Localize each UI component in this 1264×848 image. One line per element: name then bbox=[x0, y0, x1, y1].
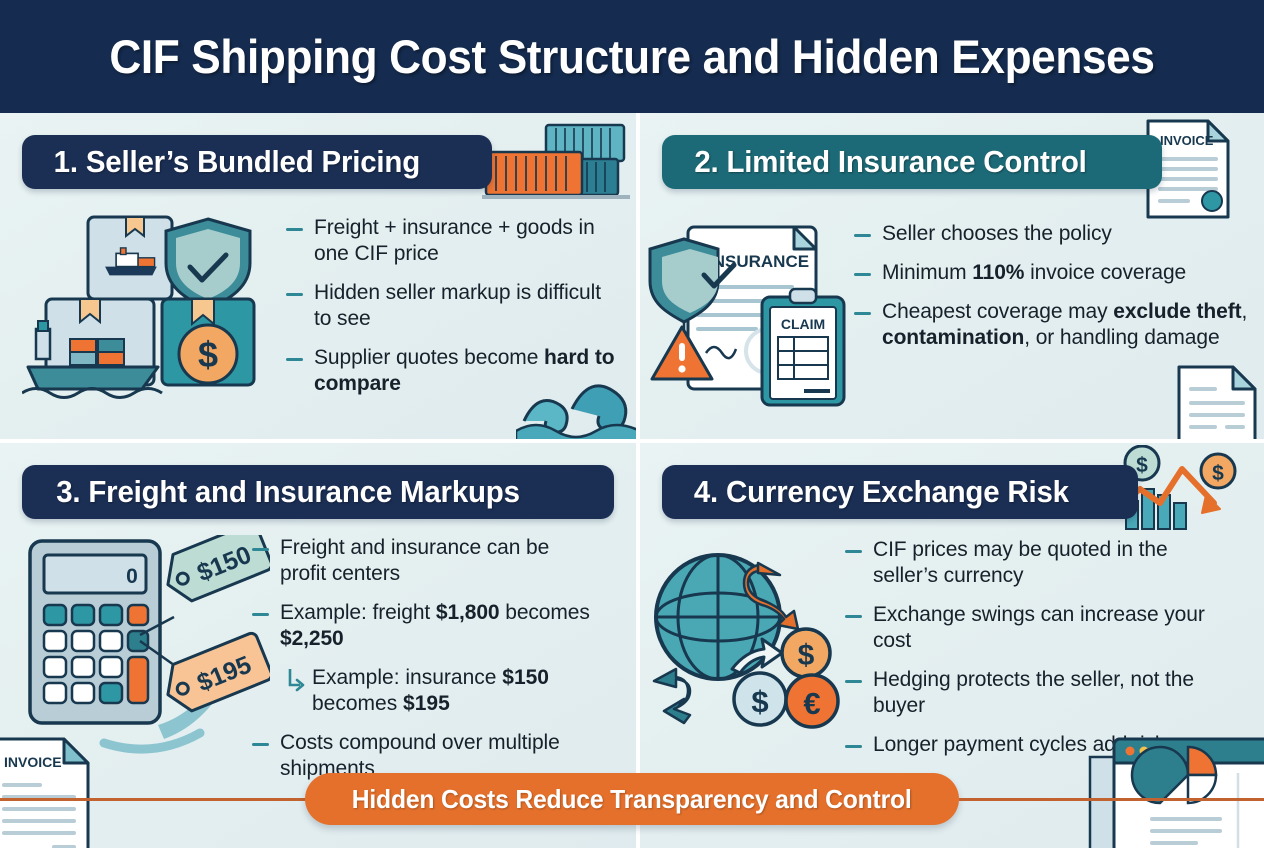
insurance-label: INSURANCE bbox=[708, 252, 809, 271]
section-2-header: 2. Limited Insurance Control bbox=[662, 135, 1162, 189]
coin-dollar-glyph: $ bbox=[198, 334, 218, 375]
invoice-corner-label: INVOICE bbox=[4, 754, 62, 770]
section-1-header: 1. Seller’s Bundled Pricing bbox=[22, 135, 492, 189]
bullet-dash-icon bbox=[845, 615, 862, 618]
section-1-title: 1. Seller’s Bundled Pricing bbox=[54, 144, 420, 180]
bullet-text: Hedging protects the seller, not the buy… bbox=[873, 667, 1227, 719]
bullet-text: Example: freight $1,800 becomes $2,250 bbox=[280, 600, 592, 652]
bullet-text: Minimum 110% invoice coverage bbox=[882, 260, 1186, 286]
calculator-display: 0 bbox=[126, 565, 138, 588]
section-1-bullets: Freight + insurance + goods in one CIF p… bbox=[286, 215, 616, 410]
bullet-text: CIF prices may be quoted in the seller’s… bbox=[873, 537, 1227, 589]
list-item: Cheapest coverage may exclude theft, con… bbox=[854, 299, 1254, 351]
insurance-policy-claim-illustration: INSURANCE CLAIM bbox=[644, 219, 874, 417]
bullet-text: Exchange swings can increase your cost bbox=[873, 602, 1227, 654]
coin-dollar-glyph: $ bbox=[1136, 454, 1148, 477]
section-2-title: 2. Limited Insurance Control bbox=[694, 144, 1086, 180]
bullet-dash-icon bbox=[845, 680, 862, 683]
bullet-dash-icon bbox=[845, 745, 862, 748]
page-title: CIF Shipping Cost Structure and Hidden E… bbox=[109, 29, 1154, 84]
coin-dollar-glyph: $ bbox=[751, 684, 768, 719]
bullet-dash-icon bbox=[286, 358, 303, 361]
list-item: Supplier quotes become hard to compare bbox=[286, 345, 616, 397]
shipping-containers-icon bbox=[468, 121, 638, 201]
banner-text: Hidden Costs Reduce Transparency and Con… bbox=[352, 784, 912, 815]
infographic-page: CIF Shipping Cost Structure and Hidden E… bbox=[0, 0, 1264, 848]
list-item: Exchange swings can increase your cost bbox=[845, 602, 1227, 654]
list-item: Freight and insurance can be profit cent… bbox=[252, 535, 592, 587]
bullet-dash-icon bbox=[286, 228, 303, 231]
bullet-text: Freight and insurance can be profit cent… bbox=[280, 535, 592, 587]
page-title-bar: CIF Shipping Cost Structure and Hidden E… bbox=[0, 0, 1264, 113]
globe-currency-exchange-illustration: $ $ € bbox=[640, 539, 866, 739]
calculator-price-tags-illustration: 0 bbox=[8, 535, 270, 755]
bullet-text: Seller chooses the policy bbox=[882, 221, 1112, 247]
bullet-dash-icon bbox=[854, 312, 871, 315]
coin-dollar-glyph: $ bbox=[1212, 462, 1224, 485]
quadrant-grid: 1. Seller’s Bundled Pricing bbox=[0, 113, 1264, 848]
section-4-header: 4. Currency Exchange Risk bbox=[662, 465, 1138, 519]
bullet-dash-icon bbox=[854, 234, 871, 237]
bullet-dash-icon bbox=[252, 743, 269, 746]
banner-pill: Hidden Costs Reduce Transparency and Con… bbox=[305, 773, 958, 825]
banner-connector-left bbox=[0, 798, 305, 801]
bullet-text: Freight + insurance + goods in one CIF p… bbox=[314, 215, 616, 267]
bullet-text: Supplier quotes become hard to compare bbox=[314, 345, 616, 397]
list-item: Hedging protects the seller, not the buy… bbox=[845, 667, 1227, 719]
section-3-bullets: Freight and insurance can be profit cent… bbox=[252, 535, 592, 795]
section-3-header: 3. Freight and Insurance Markups bbox=[22, 465, 614, 519]
corner-arrow-icon bbox=[286, 669, 306, 695]
bullet-text: Example: insurance $150 becomes $195 bbox=[312, 665, 592, 717]
bullet-dash-icon bbox=[854, 273, 871, 276]
list-item: Hidden seller markup is difficult to see bbox=[286, 280, 616, 332]
bullet-dash-icon bbox=[252, 613, 269, 616]
claim-label: CLAIM bbox=[781, 316, 825, 332]
boxes-ship-shield-coin-illustration: $ bbox=[22, 211, 277, 416]
section-1-panel: 1. Seller’s Bundled Pricing bbox=[0, 113, 640, 443]
list-item: Minimum 110% invoice coverage bbox=[854, 260, 1254, 286]
banner-connector-right bbox=[959, 798, 1264, 801]
section-2-bullets: Seller chooses the policy Minimum 110% i… bbox=[854, 221, 1254, 364]
section-4-title: 4. Currency Exchange Risk bbox=[694, 474, 1069, 510]
bullet-text: Cheapest coverage may exclude theft, con… bbox=[882, 299, 1254, 351]
sub-list-item: Example: insurance $150 becomes $195 bbox=[286, 665, 592, 717]
summary-banner: Hidden Costs Reduce Transparency and Con… bbox=[0, 770, 1264, 828]
coin-dollar-glyph: $ bbox=[798, 639, 815, 672]
list-item: Freight + insurance + goods in one CIF p… bbox=[286, 215, 616, 267]
bullet-dash-icon bbox=[286, 293, 303, 296]
bullet-dash-icon bbox=[252, 548, 269, 551]
coin-euro-glyph: € bbox=[803, 686, 820, 721]
bullet-dash-icon bbox=[845, 550, 862, 553]
invoice-label: INVOICE bbox=[1160, 133, 1214, 148]
section-2-panel: INVOICE 2. Limited Insurance Control INS… bbox=[640, 113, 1264, 443]
bullet-text: Hidden seller markup is difficult to see bbox=[314, 280, 616, 332]
document-icon bbox=[1171, 363, 1263, 443]
list-item: Example: freight $1,800 becomes $2,250 bbox=[252, 600, 592, 652]
list-item: CIF prices may be quoted in the seller’s… bbox=[845, 537, 1227, 589]
section-3-title: 3. Freight and Insurance Markups bbox=[56, 474, 520, 510]
list-item: Seller chooses the policy bbox=[854, 221, 1254, 247]
